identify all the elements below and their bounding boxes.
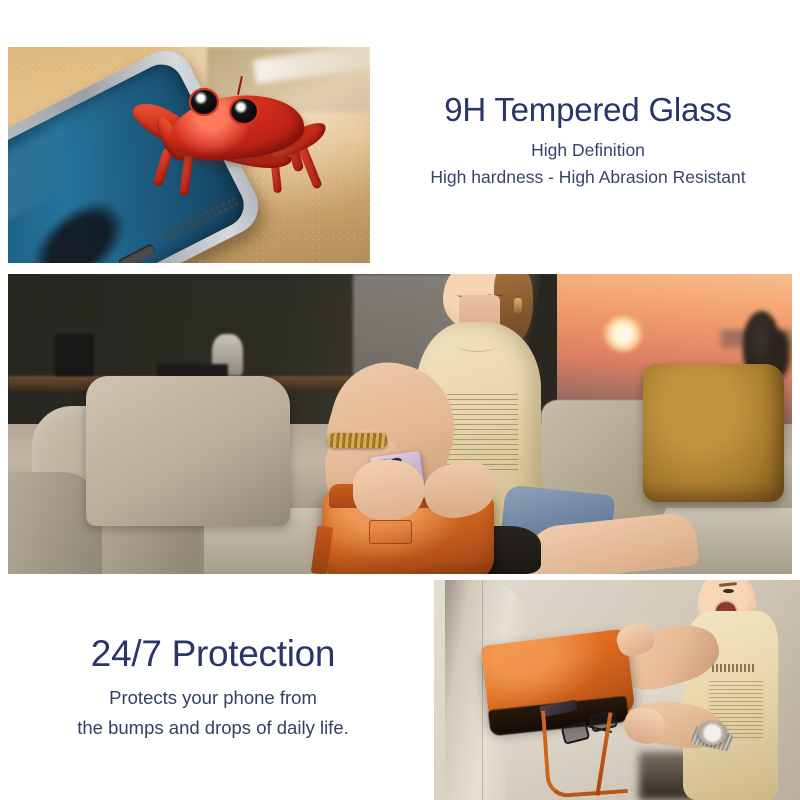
glass-subline-high-definition: High Definition — [382, 140, 794, 161]
crab-icon — [142, 73, 345, 216]
glass-text-block: 9H Tempered Glass High Definition High h… — [382, 92, 794, 188]
earring — [514, 298, 522, 313]
handbag-handle — [541, 705, 627, 798]
handbag-front-tab — [369, 520, 412, 544]
protection-subline-1: Protects your phone from — [6, 687, 420, 709]
protection-text-block: 24/7 Protection Protects your phone from… — [6, 634, 420, 739]
wristwatch-icon — [698, 721, 727, 745]
sofa-seam — [482, 580, 484, 800]
woman-hand-holding-phone — [353, 460, 424, 520]
crab-antenna — [237, 76, 242, 94]
gold-bracelet — [328, 433, 387, 448]
crab-eye — [231, 99, 257, 123]
product-banner-page: 9H Tempered Glass High Definition High h… — [0, 0, 800, 800]
shelf-object — [55, 334, 94, 376]
protection-subline-2: the bumps and drops of daily life. — [6, 717, 420, 739]
tank-top-brand-print — [712, 664, 756, 673]
tank-top-print — [447, 394, 518, 472]
couch-cushion — [86, 376, 290, 526]
necklace — [458, 340, 497, 352]
panel-bag-spilling — [434, 580, 800, 800]
glass-subline-hardness: High hardness - High Abrasion Resistant — [382, 167, 794, 188]
mustard-pillow — [643, 364, 784, 502]
sun-icon — [603, 316, 643, 352]
panel-crab-on-phone — [8, 47, 370, 263]
crab-eye — [191, 90, 217, 114]
panel-phone-into-handbag — [8, 274, 792, 574]
page-title-tempered-glass: 9H Tempered Glass — [382, 92, 794, 129]
page-title-protection: 24/7 Protection — [6, 634, 420, 675]
